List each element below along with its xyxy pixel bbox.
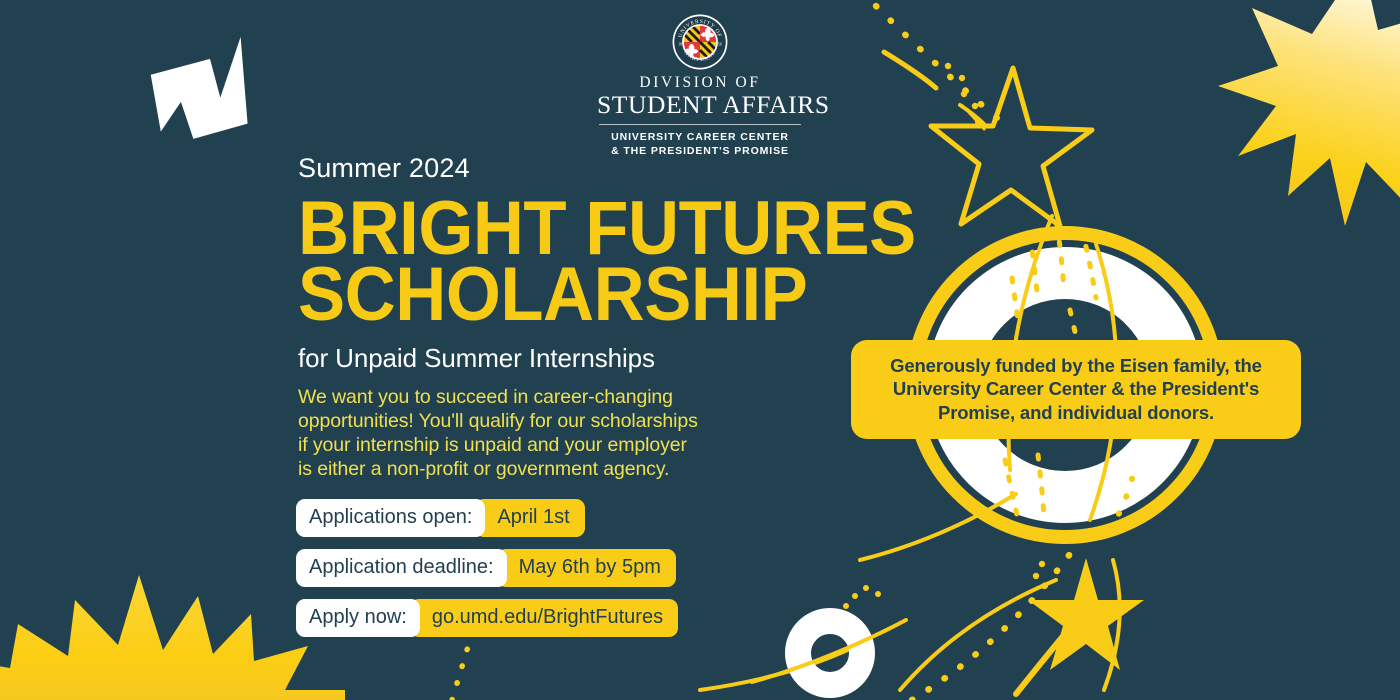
body-paragraph: We want you to succeed in career-changin…: [298, 386, 818, 481]
logo-division-line: DIVISION OF: [597, 74, 803, 91]
body-line-4: is either a non-profit or government age…: [298, 458, 818, 482]
starburst-yellow-icon: [0, 575, 345, 700]
funding-callout: Generously funded by the Eisen family, t…: [851, 340, 1301, 439]
body-line-3: if your internship is unpaid and your em…: [298, 434, 818, 458]
pill-label: Application deadline:: [296, 549, 507, 587]
info-pill-list: Applications open: April 1st Application…: [296, 499, 678, 649]
seal-year-right: 56: [718, 42, 722, 46]
pill-applications-open: Applications open: April 1st: [296, 499, 585, 537]
pill-apply-now: Apply now: go.umd.edu/BrightFutures: [296, 599, 678, 637]
donut-ring-small-icon: [798, 621, 862, 685]
dotted-specks-left-of-donut: [843, 561, 1045, 609]
headline-line-2: SCHOLARSHIP: [298, 262, 782, 328]
apply-now-url[interactable]: go.umd.edu/BrightFutures: [410, 599, 678, 637]
pill-label: Apply now:: [296, 599, 420, 637]
dotted-arc-upper-right: [876, 6, 1004, 124]
logo-subline-1: UNIVERSITY CAREER CENTER: [597, 130, 803, 144]
white-zigzag-shape: [146, 31, 253, 143]
logo-unit-line: STUDENT AFFAIRS: [597, 92, 803, 119]
callout-line-1: Generously funded by the Eisen family, t…: [867, 354, 1285, 377]
umd-seal-icon: UNIVERSITY OF MARYLAND 18 56: [672, 14, 728, 70]
scholarship-poster: UNIVERSITY OF MARYLAND 18 56 DIVISION OF…: [0, 0, 1400, 700]
umd-logo-lockup: UNIVERSITY OF MARYLAND 18 56 DIVISION OF…: [597, 14, 803, 158]
eyebrow-term: Summer 2024: [298, 155, 818, 182]
callout-line-3: Promise, and individual donors.: [867, 401, 1285, 424]
body-line-1: We want you to succeed in career-changin…: [298, 386, 818, 410]
hero-copy-block: Summer 2024 BRIGHT FUTURES SCHOLARSHIP f…: [298, 155, 818, 481]
page-title: BRIGHT FUTURES SCHOLARSHIP: [298, 196, 782, 328]
pill-value: May 6th by 5pm: [497, 549, 676, 587]
pill-value: April 1st: [475, 499, 584, 537]
starburst-gradient-icon: [1218, 0, 1400, 226]
subheadline: for Unpaid Summer Internships: [298, 345, 818, 371]
star-outline-icon: [931, 68, 1092, 226]
pill-application-deadline: Application deadline: May 6th by 5pm: [296, 549, 676, 587]
seal-year-left: 18: [678, 42, 682, 46]
logo-divider: [599, 124, 801, 125]
body-line-2: opportunities! You'll qualify for our sc…: [298, 410, 818, 434]
pill-label: Applications open:: [296, 499, 485, 537]
callout-line-2: University Career Center & the President…: [867, 377, 1285, 400]
